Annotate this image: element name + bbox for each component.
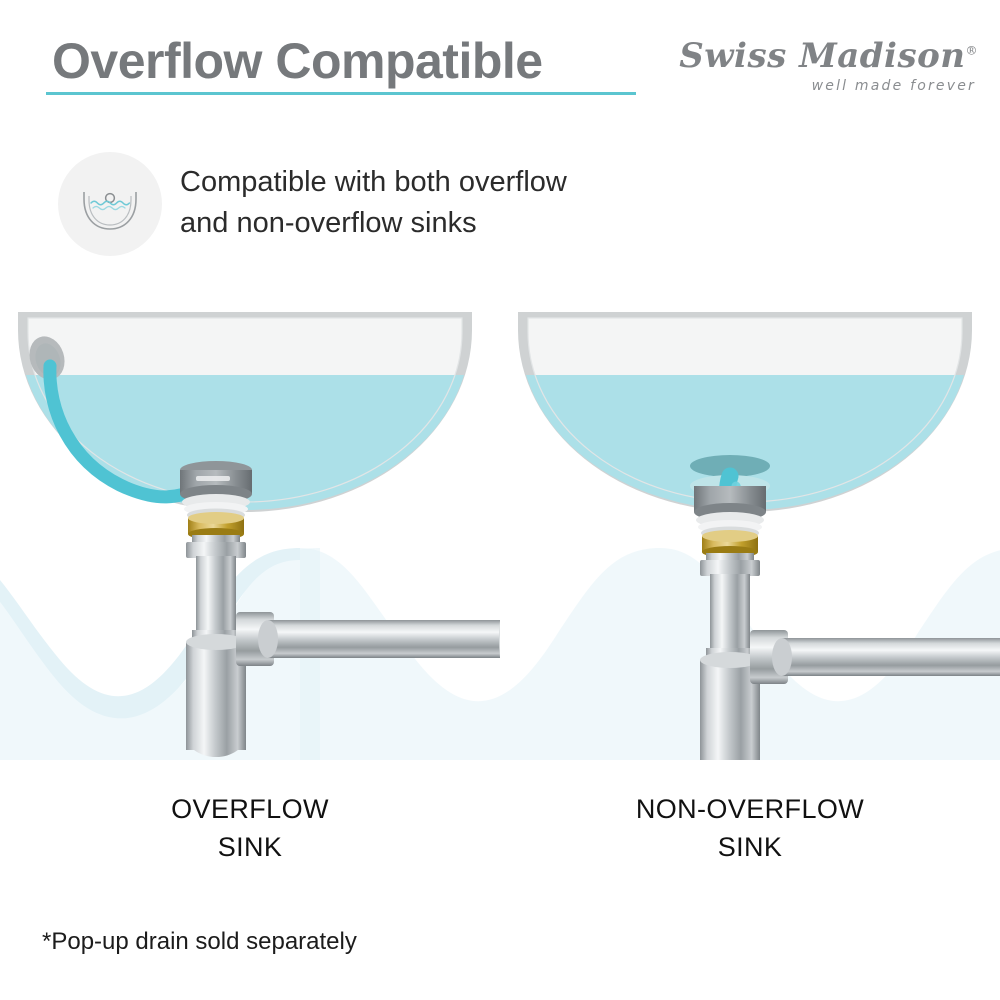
caption-left-line-2: SINK (0, 828, 500, 866)
brand-name: Swiss Madison® (678, 36, 978, 82)
scene-overflow-sink (0, 290, 500, 760)
registered-mark: ® (966, 44, 979, 58)
scene-non-overflow-sink (500, 290, 1000, 760)
caption-right-line-1: NON-OVERFLOW (500, 790, 1000, 828)
feature-line-2: and non-overflow sinks (180, 203, 680, 244)
caption-right-line-2: SINK (500, 828, 1000, 866)
sink-basin-water-icon (58, 152, 162, 256)
brand-logo: Swiss Madison® well made forever (678, 36, 978, 98)
page-title: Overflow Compatible (52, 32, 543, 90)
feature-icon-circle (58, 152, 162, 256)
feature-line-1: Compatible with both overflow (180, 162, 680, 203)
caption-non-overflow-sink: NON-OVERFLOW SINK (500, 790, 1000, 866)
caption-left-line-1: OVERFLOW (0, 790, 500, 828)
page-header: Overflow Compatible Swiss Madison® well … (0, 0, 1000, 120)
footnote: *Pop-up drain sold separately (42, 928, 357, 956)
feature-description: Compatible with both overflow and non-ov… (180, 162, 680, 244)
brand-name-text: Swiss Madison (679, 36, 965, 76)
brand-tagline: well made forever (812, 78, 976, 94)
infographic-page: Overflow Compatible Swiss Madison® well … (0, 0, 1000, 1000)
caption-overflow-sink: OVERFLOW SINK (0, 790, 500, 866)
title-underline (46, 92, 636, 95)
feature-row: Compatible with both overflow and non-ov… (58, 152, 678, 262)
